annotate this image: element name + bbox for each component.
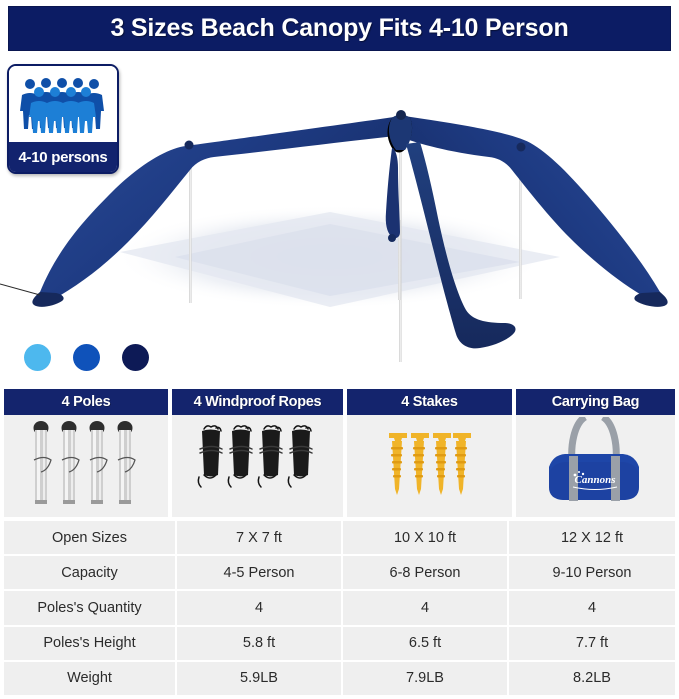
svg-text:Cannons: Cannons: [575, 474, 616, 486]
color-swatch-light-blue[interactable]: [24, 344, 51, 371]
row-value: 4-5 Person: [177, 556, 343, 589]
row-label: Poles's Height: [4, 627, 177, 660]
guy-line-left: [0, 284, 40, 295]
row-value: 9-10 Person: [509, 556, 675, 589]
accessory-image-stakes: [347, 415, 512, 517]
canopy-apex-knob: [396, 110, 406, 120]
accessory-label-ropes: 4 Windproof Ropes: [194, 394, 322, 410]
accessory-header-stakes: 4 Stakes: [347, 389, 512, 415]
accessory-column-carrying-bag: Carrying Bag Cannons: [516, 389, 675, 517]
table-row: Poles's Height 5.8 ft 6.5 ft 7.7 ft: [4, 627, 675, 662]
accessory-image-ropes: [172, 415, 343, 517]
table-row: Capacity 4-5 Person 6-8 Person 9-10 Pers…: [4, 556, 675, 591]
row-value: 4: [343, 591, 509, 624]
group-of-people-icon: [17, 75, 109, 133]
row-value: 8.2LB: [509, 662, 675, 695]
page-title-banner: 3 Sizes Beach Canopy Fits 4-10 Person: [8, 6, 671, 51]
canopy-ground-shadow: [115, 205, 560, 309]
row-value: 7.7 ft: [509, 627, 675, 660]
row-value: 10 X 10 ft: [343, 521, 509, 554]
row-value: 4: [177, 591, 343, 624]
color-swatch-navy-blue[interactable]: [122, 344, 149, 371]
canopy-corner-knob-right: [517, 143, 526, 152]
accessory-label-carrying-bag: Carrying Bag: [552, 394, 639, 410]
telescoping-poles-icon: [26, 420, 146, 512]
row-label: Open Sizes: [4, 521, 177, 554]
accessory-column-ropes: 4 Windproof Ropes: [172, 389, 343, 517]
row-value: 7.9LB: [343, 662, 509, 695]
accessory-column-stakes: 4 Stakes: [347, 389, 512, 517]
row-value: 6-8 Person: [343, 556, 509, 589]
color-options: [24, 344, 149, 371]
row-value: 4: [509, 591, 675, 624]
color-swatch-royal-blue[interactable]: [73, 344, 100, 371]
accessory-label-stakes: 4 Stakes: [401, 394, 457, 410]
row-value: 5.9LB: [177, 662, 343, 695]
row-label: Poles's Quantity: [4, 591, 177, 624]
row-label: Capacity: [4, 556, 177, 589]
accessory-column-poles: 4 Poles: [4, 389, 168, 517]
accessory-header-carrying-bag: Carrying Bag: [516, 389, 675, 415]
screw-stakes-icon: [381, 423, 477, 509]
canopy-center-strap: [386, 148, 400, 238]
canopy-anchor-right: [634, 292, 667, 307]
capacity-badge-art: [9, 66, 117, 142]
table-row: Poles's Quantity 4 4 4: [4, 591, 675, 626]
accessories-section: 4 Poles: [4, 389, 675, 517]
row-value: 5.8 ft: [177, 627, 343, 660]
accessory-image-carrying-bag: Cannons: [516, 415, 675, 517]
specifications-table: Open Sizes 7 X 7 ft 10 X 10 ft 12 X 12 f…: [4, 521, 675, 695]
page-title: 3 Sizes Beach Canopy Fits 4-10 Person: [110, 14, 568, 43]
accessory-header-poles: 4 Poles: [4, 389, 168, 415]
capacity-badge-label: 4-10 persons: [19, 149, 108, 166]
row-label: Weight: [4, 662, 177, 695]
duffel-bag-icon: Cannons: [529, 417, 661, 515]
table-row: Open Sizes 7 X 7 ft 10 X 10 ft 12 X 12 f…: [4, 521, 675, 556]
capacity-badge: 4-10 persons: [7, 64, 119, 174]
accessory-image-poles: [4, 415, 168, 517]
row-value: 6.5 ft: [343, 627, 509, 660]
accessory-header-ropes: 4 Windproof Ropes: [172, 389, 343, 415]
accessory-label-poles: 4 Poles: [62, 394, 111, 410]
canopy-corner-knob-left: [185, 141, 194, 150]
row-value: 12 X 12 ft: [509, 521, 675, 554]
capacity-badge-caption: 4-10 persons: [9, 142, 117, 172]
coiled-ropes-icon: [194, 421, 320, 511]
table-row: Weight 5.9LB 7.9LB 8.2LB: [4, 662, 675, 695]
row-value: 7 X 7 ft: [177, 521, 343, 554]
